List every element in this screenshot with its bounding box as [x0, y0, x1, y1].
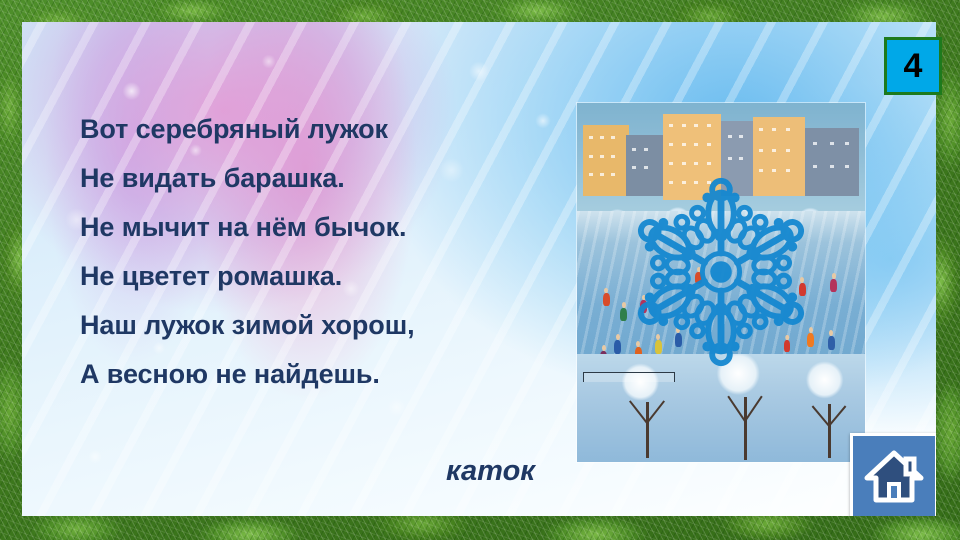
- home-button[interactable]: [850, 433, 936, 516]
- tree-branch: [629, 401, 648, 424]
- winter-rink-picture: [577, 103, 865, 462]
- riddle-line-3: Не мычит на нём бычок.: [80, 203, 540, 252]
- picture-snowy-orchard: [577, 354, 865, 462]
- skater: [830, 279, 837, 292]
- riddle-line-4: Не цветет ромашка.: [80, 252, 540, 301]
- riddle-line-6: А весною не найдешь.: [80, 350, 540, 399]
- rink-fence: [583, 372, 675, 383]
- tree-trunk: [646, 402, 649, 458]
- tree-trunk: [744, 397, 747, 459]
- skater: [828, 336, 835, 350]
- question-number-badge: 4: [884, 37, 942, 95]
- question-number: 4: [904, 49, 923, 83]
- snowflake-icon: [623, 174, 819, 370]
- riddle-line-1: Вот серебряный лужок: [80, 105, 540, 154]
- slide-root: Вот серебряный лужок Не видать барашка. …: [0, 0, 960, 540]
- home-icon: [864, 448, 924, 506]
- skater: [603, 293, 610, 306]
- riddle-line-2: Не видать барашка.: [80, 154, 540, 203]
- tree-branch: [646, 401, 665, 424]
- riddle-line-5: Наш лужок зимой хорош,: [80, 301, 540, 350]
- slide-content-panel: Вот серебряный лужок Не видать барашка. …: [22, 22, 936, 516]
- skater: [614, 340, 621, 354]
- riddle-text-block: Вот серебряный лужок Не видать барашка. …: [80, 105, 540, 399]
- riddle-answer: каток: [80, 455, 535, 488]
- tree-trunk: [828, 404, 831, 458]
- building-1: [583, 125, 629, 197]
